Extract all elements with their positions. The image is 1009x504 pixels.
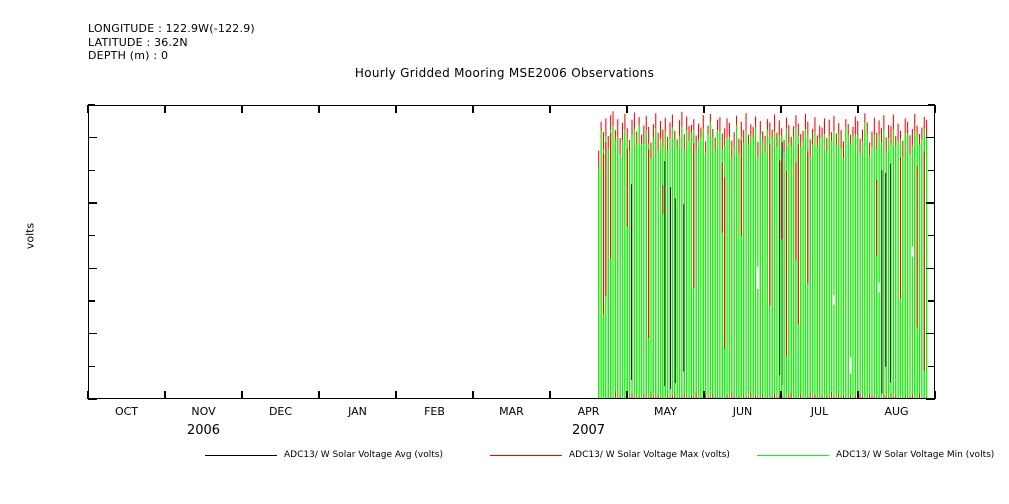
x-tick-mark (164, 105, 166, 113)
x-tick-label: JUN (733, 405, 753, 418)
x-tick-label: MAR (499, 405, 524, 418)
legend-line-swatch (757, 455, 829, 456)
x-tick-mark (703, 105, 705, 113)
y-tick-mark (926, 268, 935, 270)
y-tick-mark (88, 366, 95, 368)
legend-line-swatch (205, 455, 277, 456)
x-axis-year-label: 2006 (187, 423, 220, 438)
y-tick-mark (928, 235, 935, 237)
x-tick-mark (857, 391, 859, 399)
y-tick-mark (88, 300, 95, 302)
x-tick-label: JUL (811, 405, 828, 418)
legend-item[interactable]: ADC13/ W Solar Voltage Min (volts) (757, 450, 994, 460)
y-tick-mark (926, 398, 935, 400)
legend-item[interactable]: ADC13/ W Solar Voltage Max (volts) (490, 450, 730, 460)
legend-label: ADC13/ W Solar Voltage Min (volts) (836, 450, 994, 460)
x-tick-mark (472, 105, 474, 113)
y-tick-mark (88, 268, 97, 270)
x-tick-mark (318, 105, 320, 113)
legend-label: ADC13/ W Solar Voltage Max (volts) (569, 450, 730, 460)
x-tick-mark (626, 105, 628, 113)
x-tick-label: FEB (424, 405, 445, 418)
y-tick-mark (928, 170, 935, 172)
y-tick-mark (88, 333, 97, 335)
chart-legend: ADC13/ W Solar Voltage Avg (volts)ADC13/… (0, 450, 1009, 470)
legend-label: ADC13/ W Solar Voltage Avg (volts) (284, 450, 443, 460)
x-tick-label: APR (578, 405, 600, 418)
y-tick-mark (928, 366, 935, 368)
y-tick-mark (928, 300, 935, 302)
y-tick-mark (88, 235, 95, 237)
x-tick-mark (549, 105, 551, 113)
y-tick-mark (928, 104, 935, 106)
y-tick-mark (926, 333, 935, 335)
y-tick-mark (926, 137, 935, 139)
x-tick-mark (857, 105, 859, 113)
y-tick-mark (88, 202, 97, 204)
y-tick-mark (88, 170, 95, 172)
y-tick-mark (926, 202, 935, 204)
x-tick-mark (164, 391, 166, 399)
x-tick-mark (87, 105, 89, 113)
x-tick-mark (703, 391, 705, 399)
y-tick-mark (88, 398, 97, 400)
x-tick-mark (626, 391, 628, 399)
x-tick-mark (395, 105, 397, 113)
x-tick-label: AUG (884, 405, 908, 418)
x-tick-mark (472, 391, 474, 399)
x-tick-mark (241, 391, 243, 399)
legend-line-swatch (490, 455, 562, 456)
x-tick-mark (780, 105, 782, 113)
x-tick-label: NOV (191, 405, 215, 418)
x-axis-labels: OCTNOVDECJANFEBMARAPRMAYJUNJULAUG2006200… (0, 0, 1009, 504)
x-tick-label: OCT (115, 405, 138, 418)
x-tick-mark (241, 105, 243, 113)
legend-item[interactable]: ADC13/ W Solar Voltage Avg (volts) (205, 450, 443, 460)
x-tick-mark (780, 391, 782, 399)
x-tick-label: MAY (654, 405, 677, 418)
x-tick-label: JAN (348, 405, 367, 418)
y-tick-mark (88, 104, 95, 106)
y-tick-mark (88, 137, 97, 139)
x-tick-mark (934, 105, 936, 113)
x-tick-mark (395, 391, 397, 399)
x-axis-year-label: 2007 (572, 423, 605, 438)
x-tick-label: DEC (269, 405, 292, 418)
x-tick-mark (549, 391, 551, 399)
x-tick-mark (318, 391, 320, 399)
